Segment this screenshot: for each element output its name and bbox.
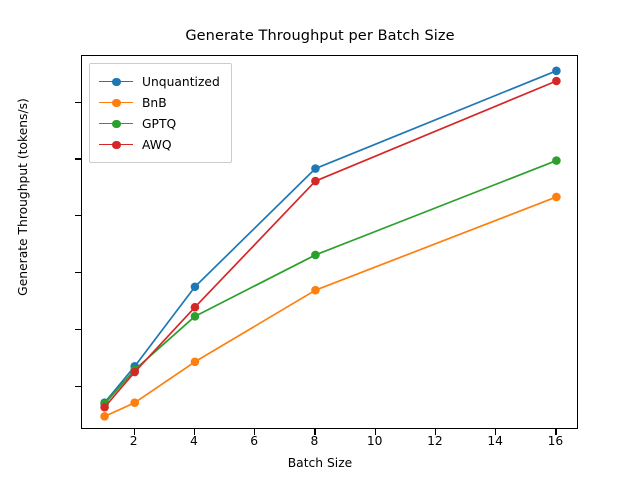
data-point-marker <box>552 193 561 202</box>
chart-title: Generate Throughput per Batch Size <box>0 28 640 44</box>
legend-item[interactable]: AWQ <box>99 134 220 155</box>
legend-swatch-icon <box>99 75 133 89</box>
legend-item[interactable]: Unquantized <box>99 71 220 92</box>
data-point-marker <box>311 286 320 295</box>
legend-dot-icon <box>112 99 121 108</box>
x-axis-label: Batch Size <box>0 456 640 470</box>
chart-figure: Generate Throughput per Batch Size Gener… <box>0 0 640 480</box>
x-axis-tick-label: 8 <box>294 434 334 448</box>
data-point-marker <box>191 282 200 291</box>
data-point-marker <box>130 398 139 407</box>
data-point-marker <box>311 251 320 260</box>
y-axis-label: Generate Throughput (tokens/s) <box>16 32 30 362</box>
series-bnb <box>100 193 560 421</box>
legend-item-label: GPTQ <box>142 117 176 131</box>
x-axis-tick-label: 6 <box>234 434 274 448</box>
x-axis-tick-label: 12 <box>415 434 455 448</box>
data-point-marker <box>100 412 109 421</box>
x-axis-tick-label: 2 <box>114 434 154 448</box>
x-axis-tick-label: 14 <box>475 434 515 448</box>
legend-dot-icon <box>112 78 121 87</box>
x-axis-tick-label: 16 <box>535 434 575 448</box>
series-gptq <box>100 156 560 408</box>
data-point-marker <box>311 164 320 173</box>
data-point-marker <box>191 303 200 312</box>
series-line <box>105 197 557 416</box>
data-point-marker <box>100 403 109 412</box>
data-point-marker <box>552 66 561 75</box>
data-point-marker <box>552 77 561 86</box>
data-point-marker <box>191 357 200 366</box>
x-axis-tick-label: 4 <box>174 434 214 448</box>
legend-dot-icon <box>112 120 121 129</box>
data-point-marker <box>311 177 320 186</box>
legend-swatch-icon <box>99 138 133 152</box>
legend-dot-icon <box>112 141 121 150</box>
chart-legend: UnquantizedBnBGPTQAWQ <box>89 63 232 163</box>
data-point-marker <box>130 368 139 377</box>
series-line <box>105 161 557 404</box>
legend-item-label: AWQ <box>142 138 172 152</box>
data-point-marker <box>191 312 200 321</box>
legend-item-label: Unquantized <box>142 75 220 89</box>
x-axis-tick-label: 10 <box>355 434 395 448</box>
legend-item-label: BnB <box>142 96 167 110</box>
legend-swatch-icon <box>99 117 133 131</box>
data-point-marker <box>552 156 561 165</box>
legend-item[interactable]: GPTQ <box>99 113 220 134</box>
legend-item[interactable]: BnB <box>99 92 220 113</box>
legend-swatch-icon <box>99 96 133 110</box>
